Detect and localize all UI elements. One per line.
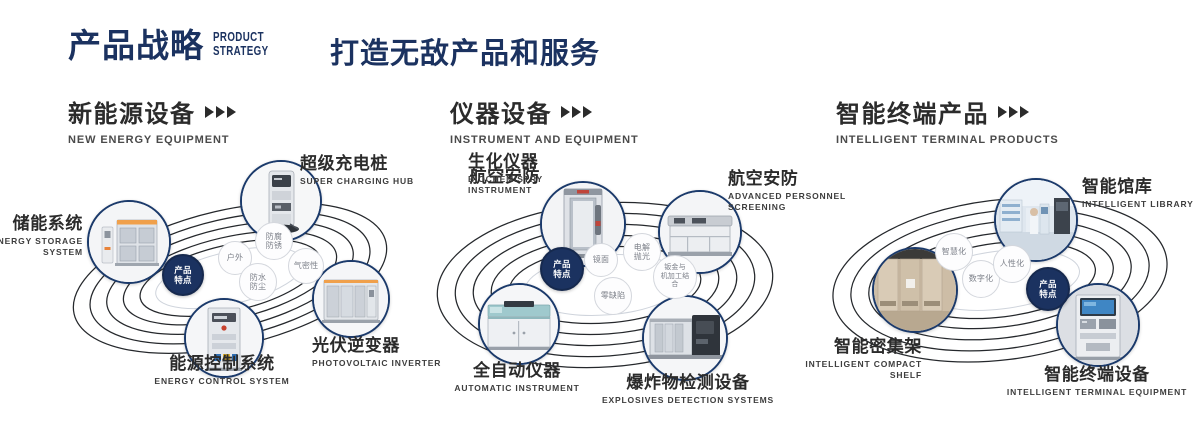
node-energy-storage-system[interactable] <box>87 200 171 284</box>
section-title-cn: 智能终端产品 <box>836 94 989 129</box>
chevron-right-icon <box>205 106 236 118</box>
label-biochemistry-instrument: 生化仪器 BIOCHEMISTRY INSTRUMENT <box>468 152 543 196</box>
node-label-en: INTELLIGENT TERMINAL EQUIPMENT <box>1006 387 1188 398</box>
explosives-detection-photo <box>644 297 726 379</box>
node-label-en: ENERGY CONTROL SYSTEM <box>84 376 360 387</box>
section-title-en: INSTRUMENT AND EQUIPMENT <box>450 134 639 146</box>
label-explosives-detection-systems: 爆炸物检测设备 EXPLOSIVES DETECTION SYSTEMS <box>588 373 788 406</box>
page-title-en: PRODUCT STRATEGY <box>213 31 268 58</box>
label-intelligent-library: 智能馆库 INTELLIGENT LIBRARY <box>1082 177 1194 210</box>
node-label-cn: 爆炸物检测设备 <box>588 373 788 393</box>
feature-bubble-anticorrosion[interactable]: 防腐 防锈 <box>255 222 293 260</box>
node-automatic-instrument[interactable] <box>478 283 560 365</box>
page-title-en-line1: PRODUCT <box>213 31 268 45</box>
node-label-en: ENERGY STORAGE SYSTEM <box>0 236 83 258</box>
node-label-en: AUTOMATIC INSTRUMENT <box>427 383 607 394</box>
terminal-equipment-photo <box>1058 285 1138 365</box>
node-label-cn: 能源控制系统 <box>84 354 360 374</box>
node-label-cn: 智能馆库 <box>1082 177 1194 197</box>
feature-core-product-traits[interactable]: 产品 特点 <box>162 254 204 296</box>
label-super-charging-hub: 超级充电桩 SUPER CHARGING HUB <box>300 154 414 187</box>
section-title-cn: 新能源设备 <box>68 94 196 129</box>
node-label-en: INTELLIGENT COMPACT SHELF <box>762 359 922 381</box>
label-intelligent-terminal-equipment: 智能终端设备 INTELLIGENT TERMINAL EQUIPMENT <box>1006 365 1188 398</box>
node-explosives-detection-systems[interactable] <box>642 295 728 381</box>
label-automatic-instrument: 全自动仪器 AUTOMATIC INSTRUMENT <box>427 361 607 394</box>
chevron-right-icon <box>998 106 1029 118</box>
page-title-cn: 产品战略 <box>68 26 204 66</box>
feature-core-product-traits[interactable]: 产品 特点 <box>540 247 584 291</box>
node-label-en: SUPER CHARGING HUB <box>300 176 414 187</box>
section-title-cn: 仪器设备 <box>450 94 552 129</box>
label-intelligent-compact-shelf: 智能密集架 INTELLIGENT COMPACT SHELF <box>762 337 922 381</box>
feature-bubble-waterproof[interactable]: 防水 防尘 <box>239 263 277 301</box>
chevron-right-icon <box>561 106 592 118</box>
node-label-cn: 超级充电桩 <box>300 154 414 174</box>
node-label-cn: 智能密集架 <box>762 337 922 357</box>
section-title-en: INTELLIGENT TERMINAL PRODUCTS <box>836 134 1059 146</box>
node-label-cn: 生化仪器 <box>468 152 543 172</box>
feature-bubble-sheetmetal-machining[interactable]: 钣金与 机加工结合 <box>653 255 697 299</box>
node-label-cn: 全自动仪器 <box>427 361 607 381</box>
infographic-canvas: 产品战略 PRODUCT STRATEGY 打造无敌产品和服务 新能源设备 NE… <box>0 0 1200 422</box>
node-label-en: INTELLIGENT LIBRARY <box>1082 199 1194 210</box>
page-title: 产品战略 PRODUCT STRATEGY <box>68 26 284 66</box>
pv-inverter-photo <box>314 262 388 336</box>
section-header-new-energy: 新能源设备 NEW ENERGY EQUIPMENT <box>68 94 236 146</box>
feature-bubble-humanization[interactable]: 人性化 <box>993 245 1031 283</box>
node-label-en: BIOCHEMISTRY INSTRUMENT <box>468 174 543 196</box>
node-label-cn: 智能终端设备 <box>1006 365 1188 385</box>
page-title-en-line2: STRATEGY <box>213 45 268 59</box>
feature-core-product-traits[interactable]: 产品 特点 <box>1026 267 1070 311</box>
section-header-intelligent-terminal: 智能终端产品 INTELLIGENT TERMINAL PRODUCTS <box>836 94 1059 146</box>
automatic-instrument-photo <box>480 285 558 363</box>
cluster-new-energy: 储能系统 ENERGY STORAGE SYSTEM 超级充电桩 <box>40 150 420 400</box>
feature-bubble-zero-defect[interactable]: 零缺陷 <box>594 277 632 315</box>
page-subtitle: 打造无敌产品和服务 <box>330 30 600 72</box>
label-energy-control-system: 能源控制系统 ENERGY CONTROL SYSTEM <box>84 354 360 387</box>
node-label-cn: 储能系统 <box>0 214 83 234</box>
cluster-instrument: 航空安防 生化仪器 BIOCHEMISTRY INSTRUMENT <box>410 155 800 405</box>
label-energy-storage-system: 储能系统 ENERGY STORAGE SYSTEM <box>0 214 83 258</box>
node-photovoltaic-inverter[interactable] <box>312 260 390 338</box>
node-label-en: EXPLOSIVES DETECTION SYSTEMS <box>588 395 788 406</box>
cluster-intelligent-terminal: 智能馆库 INTELLIGENT LIBRARY 智能密集架 INTELLIGE… <box>810 155 1200 405</box>
energy-storage-photo <box>89 202 169 282</box>
feature-bubble-airtightness[interactable]: 气密性 <box>288 248 324 284</box>
section-title-en: NEW ENERGY EQUIPMENT <box>68 134 236 146</box>
section-header-instrument: 仪器设备 INSTRUMENT AND EQUIPMENT <box>450 94 639 146</box>
feature-bubble-mirror-finish[interactable]: 镜面 <box>584 243 618 277</box>
